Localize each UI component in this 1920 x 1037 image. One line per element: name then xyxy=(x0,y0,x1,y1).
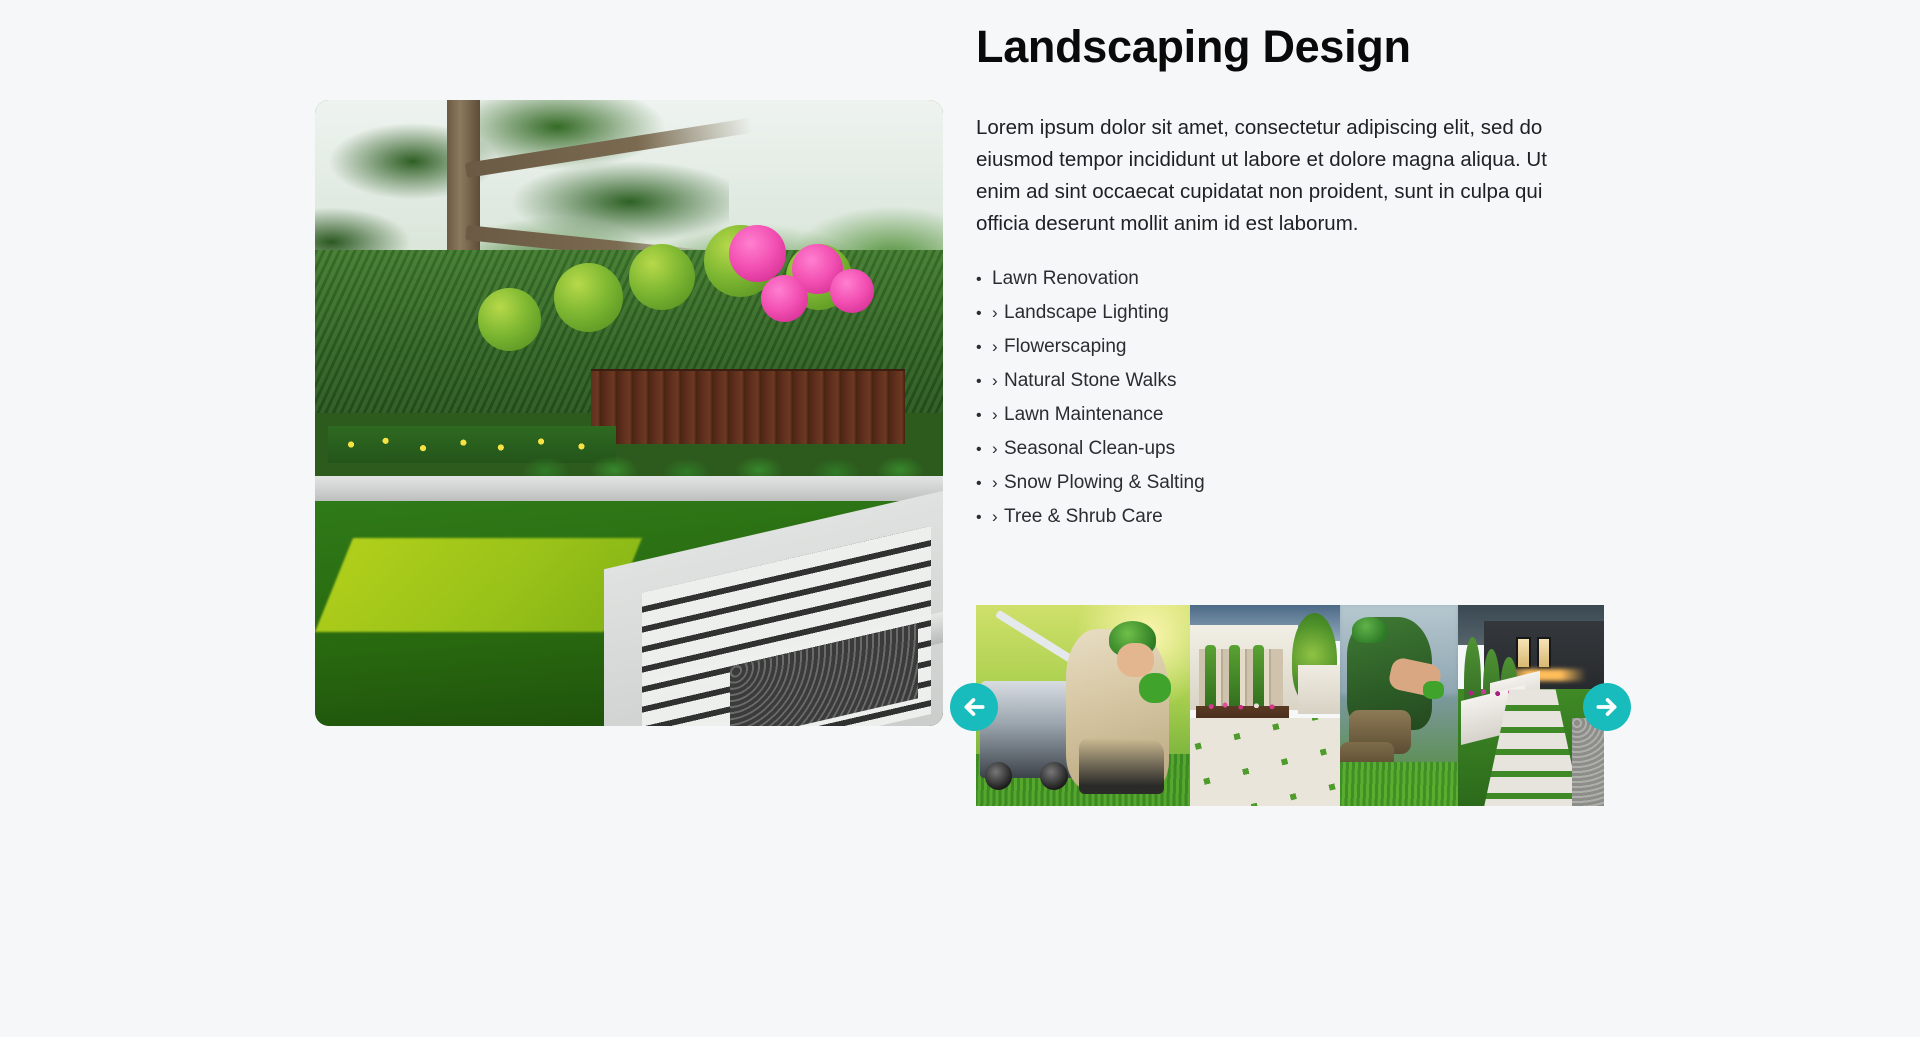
carousel-thumbnail[interactable] xyxy=(976,605,1190,806)
chevron-right-icon: › xyxy=(992,296,1004,329)
page-root: Landscaping Design Lorem ipsum dolor sit… xyxy=(0,0,1920,1037)
service-list-item[interactable]: • › Seasonal Clean-ups xyxy=(976,432,1616,466)
bullet-icon: • xyxy=(976,433,992,466)
thumbnail-carousel xyxy=(976,605,1604,806)
service-label: Seasonal Clean-ups xyxy=(1004,432,1175,465)
page-title: Landscaping Design xyxy=(976,22,1616,72)
chevron-right-icon: › xyxy=(992,466,1004,499)
chevron-right-icon: › xyxy=(992,500,1004,533)
service-list-item[interactable]: • › Snow Plowing & Salting xyxy=(976,466,1616,500)
hero-lawn-sunlight-patch xyxy=(315,538,642,632)
bullet-icon: • xyxy=(976,263,992,296)
chevron-right-icon: › xyxy=(992,432,1004,465)
service-label: Lawn Renovation xyxy=(992,262,1139,295)
bullet-icon: • xyxy=(976,331,992,364)
service-label: Snow Plowing & Salting xyxy=(1004,466,1205,499)
hero-pink-blossom xyxy=(729,225,786,282)
hero-pink-blossom xyxy=(830,269,874,313)
service-list-item[interactable]: • › Flowerscaping xyxy=(976,330,1616,364)
arrow-right-icon xyxy=(1594,694,1620,720)
service-label: Landscape Lighting xyxy=(1004,296,1169,329)
bullet-icon: • xyxy=(976,297,992,330)
bullet-icon: • xyxy=(976,399,992,432)
service-label: Tree & Shrub Care xyxy=(1004,500,1163,533)
hero-image xyxy=(315,100,943,726)
thumbnail-strip xyxy=(976,605,1604,806)
carousel-next-button[interactable] xyxy=(1583,683,1631,731)
carousel-thumbnail[interactable] xyxy=(1190,605,1340,806)
service-list-item[interactable]: • › Lawn Maintenance xyxy=(976,398,1616,432)
services-list: • Lawn Renovation • › Landscape Lighting… xyxy=(976,262,1616,534)
content-column: Landscaping Design Lorem ipsum dolor sit… xyxy=(976,22,1616,534)
carousel-prev-button[interactable] xyxy=(950,683,998,731)
service-list-item[interactable]: • › Tree & Shrub Care xyxy=(976,500,1616,534)
intro-paragraph: Lorem ipsum dolor sit amet, consectetur … xyxy=(976,112,1576,240)
bullet-icon: • xyxy=(976,365,992,398)
service-list-item[interactable]: • › Natural Stone Walks xyxy=(976,364,1616,398)
bullet-icon: • xyxy=(976,467,992,500)
chevron-right-icon: › xyxy=(992,364,1004,397)
carousel-thumbnail[interactable] xyxy=(1340,605,1458,806)
bullet-icon: • xyxy=(976,501,992,534)
service-list-item[interactable]: • › Landscape Lighting xyxy=(976,296,1616,330)
arrow-left-icon xyxy=(961,694,987,720)
hero-pink-blossom xyxy=(761,275,808,322)
chevron-right-icon: › xyxy=(992,330,1004,363)
service-label: Lawn Maintenance xyxy=(1004,398,1164,431)
hero-image-scene xyxy=(315,100,943,726)
service-label: Flowerscaping xyxy=(1004,330,1127,363)
service-label: Natural Stone Walks xyxy=(1004,364,1176,397)
chevron-right-icon: › xyxy=(992,398,1004,431)
service-list-item[interactable]: • Lawn Renovation xyxy=(976,262,1616,296)
